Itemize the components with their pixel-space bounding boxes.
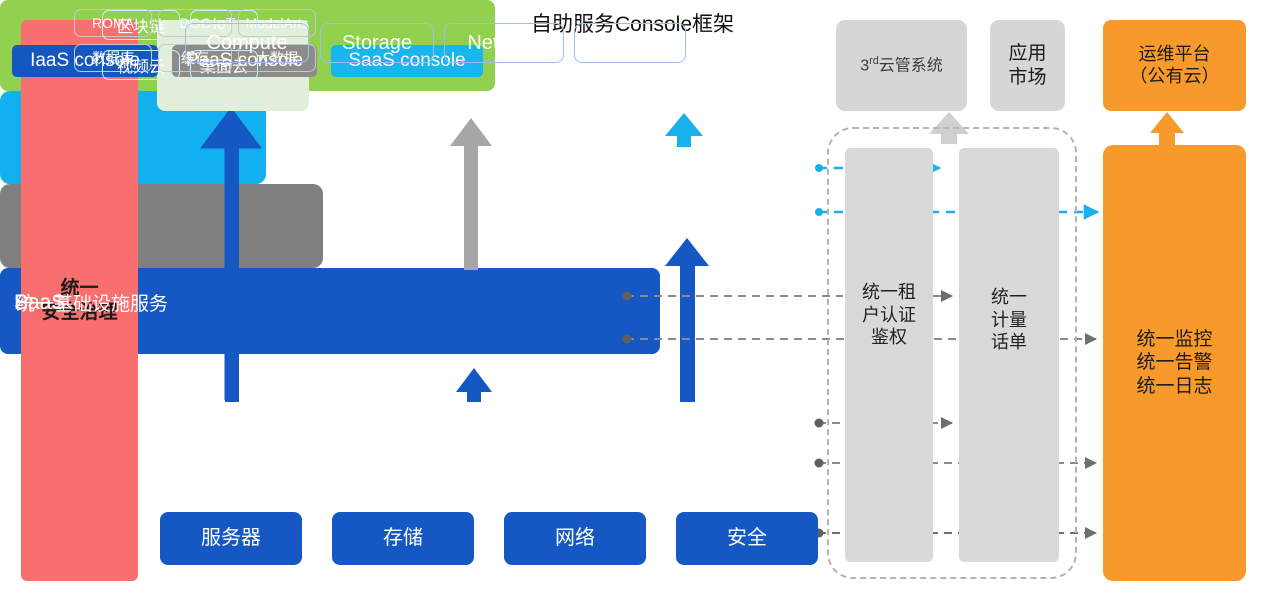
pillar-auth-line2: 户认证 [862,304,916,327]
pillar-auth-label: 统一租 户认证 鉴权 [845,270,933,360]
pillar-auth-line1: 统一租 [862,281,916,304]
ops-col-line1: 统一监控 [1136,328,1212,351]
arrow-infra-to-paas [456,368,492,402]
third-party-cloud-management-block[interactable]: 3rd云管系统 [836,20,967,111]
hardware-security-block[interactable]: 安全 [676,512,818,565]
arrow-infra-to-saas [665,238,709,402]
ops-top-line2: （公有云） [1130,66,1220,88]
app-market-block[interactable]: 应用 市场 [990,20,1065,111]
hardware-network-block[interactable]: 网络 [504,512,646,565]
hardware-storage-block[interactable]: 存储 [332,512,474,565]
pillar-auth-line3: 鉴权 [862,326,916,349]
architecture-diagram: 统一租 户认证 鉴权 统一 计量 话单 统一 安全治理 API网关 自助服务Co… [0,0,1265,605]
pillar-metering-line2: 计量 [991,309,1027,332]
third-cloud-label: 3rd云管系统 [860,55,943,76]
arrow-saas-to-saas-console [665,113,703,147]
arrow-ops-column-to-ops-top [1150,112,1184,146]
infra-chip-compute[interactable]: Compute [185,23,309,63]
ops-col-line2: 统一告警 [1136,351,1212,374]
infra-chip-storage[interactable]: Storage [320,23,434,63]
infra-chip-cce[interactable]: CCE [574,23,686,63]
unified-infrastructure-service-block[interactable]: 统一基础设施服务 Compute Storage Network CCE [0,268,660,354]
infra-chip-network[interactable]: Network [444,23,564,63]
ops-col-line3: 统一日志 [1136,375,1212,398]
pillar-metering-label: 统一 计量 话单 [959,275,1059,365]
app-market-line1: 应用 [1008,42,1046,65]
app-market-line2: 市场 [1008,66,1046,89]
ops-top-line1: 运维平台 [1130,44,1220,66]
infrastructure-label: 统一基础设施服务 [16,0,168,605]
pillar-metering-line1: 统一 [991,286,1027,309]
arrow-paas-to-console [450,118,492,270]
ops-platform-public-cloud-block[interactable]: 运维平台 （公有云） [1103,20,1246,111]
hardware-server-block[interactable]: 服务器 [160,512,302,565]
ops-monitoring-column[interactable]: 统一监控 统一告警 统一日志 [1103,145,1246,581]
pillar-metering-line3: 话单 [991,331,1027,354]
